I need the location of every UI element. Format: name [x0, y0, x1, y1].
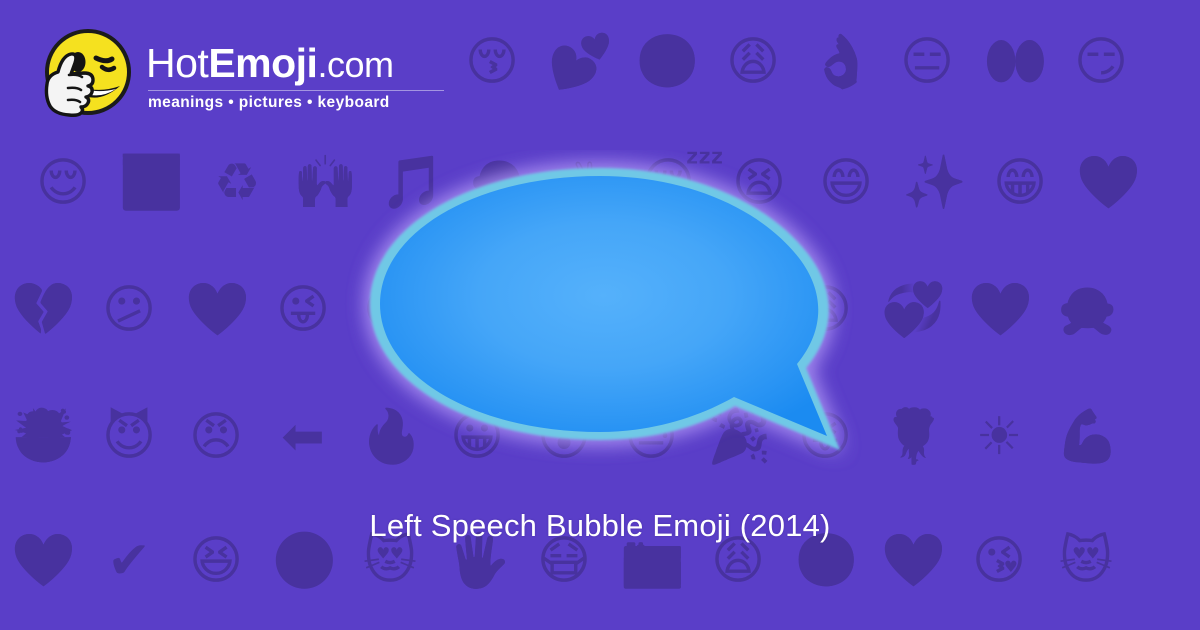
background-emoji-glyph: 😩 — [722, 31, 784, 93]
logo-word-com: .com — [317, 44, 393, 85]
logo-divider — [148, 90, 444, 91]
hero-emoji-artwork — [0, 150, 1200, 480]
background-emoji-glyph: 😑 — [896, 31, 958, 93]
background-emoji-glyph: 🙂 — [635, 31, 697, 93]
logo-word-hot: Hot — [146, 40, 208, 86]
logo-tagline: meanings • pictures • keyboard — [148, 94, 444, 112]
winking-smiley-thumbs-up-icon — [36, 28, 132, 124]
logo-word-emoji: Emoji — [208, 40, 317, 86]
page-title: Left Speech Bubble Emoji (2014) — [0, 508, 1200, 544]
background-emoji-glyph: 💕 — [548, 31, 610, 93]
background-emoji-glyph: 😚 — [461, 31, 523, 93]
logo-text-block: HotEmoji.com meanings • pictures • keybo… — [146, 42, 444, 111]
background-emoji-glyph: 👀 — [983, 31, 1045, 93]
logo-wordmark: HotEmoji.com — [146, 42, 444, 85]
emoji-preview-card: 😚💕🙂😩👌😑👀😏😌🎹♻🙌🎵🙊✌😴😫😄✨😁🤎💔😕🖤😜😢😀😵😲💘😩💞🤍🙊🤯😈😠⬅🔥😀… — [0, 0, 1200, 630]
background-emoji-glyph: 😏 — [1070, 31, 1132, 93]
background-emoji-glyph: 👌 — [809, 31, 871, 93]
site-logo[interactable]: HotEmoji.com meanings • pictures • keybo… — [36, 28, 444, 124]
